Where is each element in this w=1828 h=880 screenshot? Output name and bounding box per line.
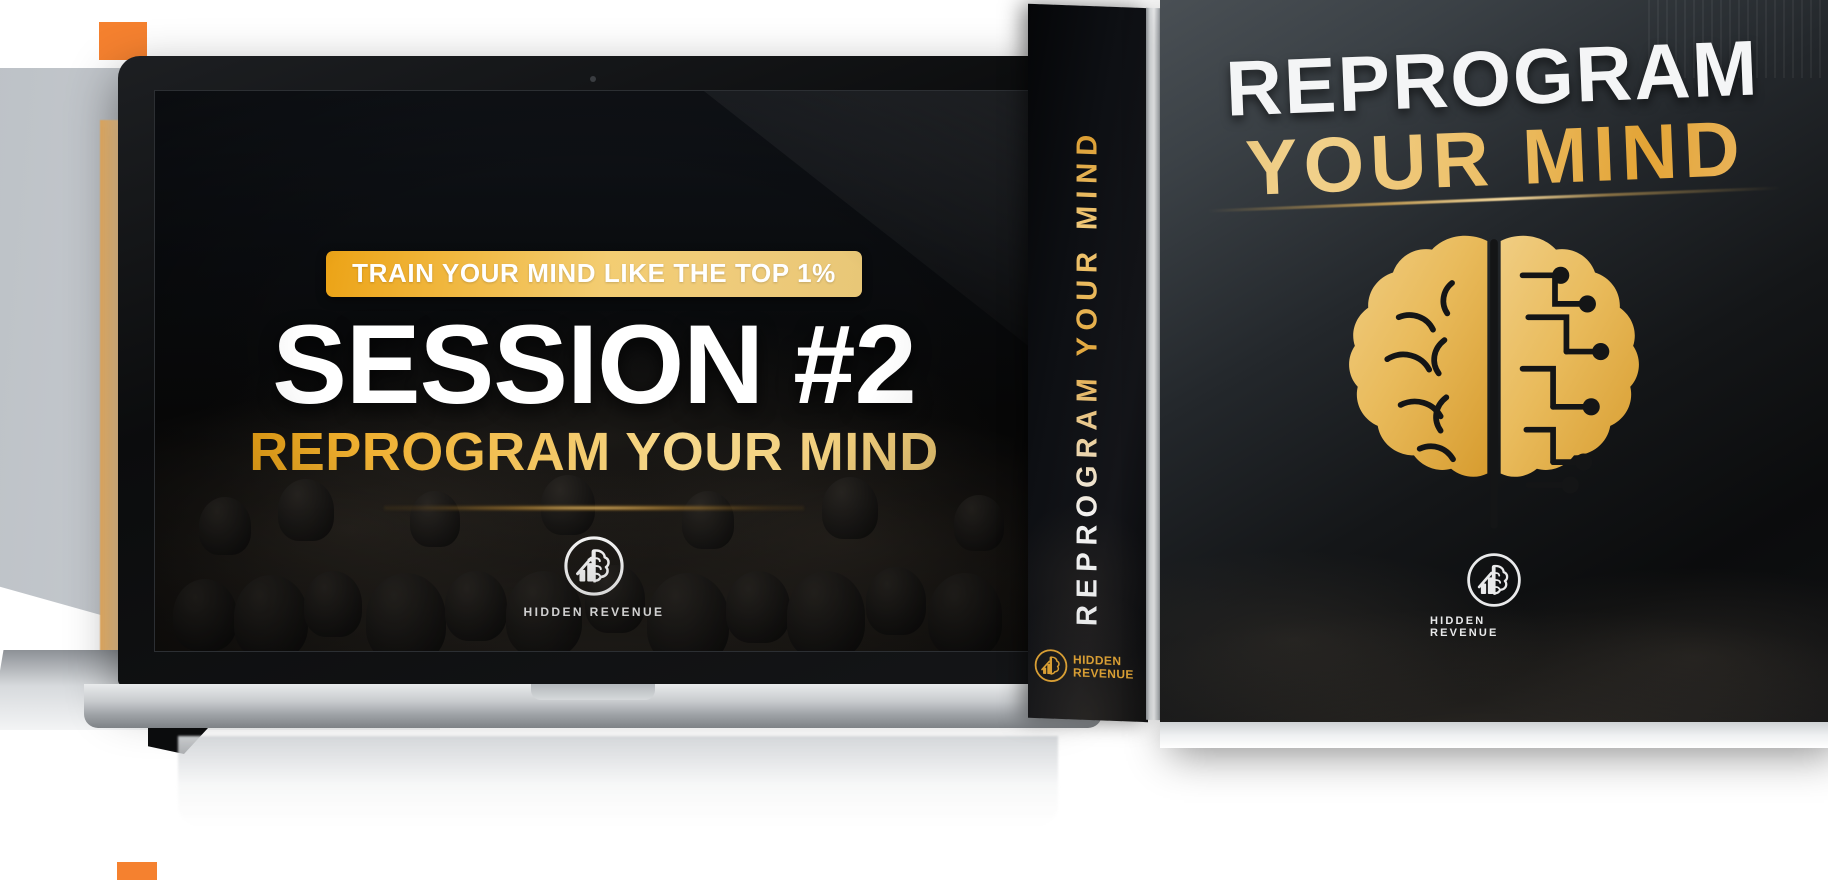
book-bottom-reflection xyxy=(1160,722,1828,748)
session-headline: SESSION #2 xyxy=(272,309,916,421)
session-subheadline: REPROGRAM YOUR MIND xyxy=(249,425,939,479)
book-spine-brand-logo: HIDDEN REVENUE xyxy=(1034,648,1142,686)
screen-brand-logo: HIDDEN REVENUE xyxy=(524,535,665,619)
screen-brand-wordmark: HIDDEN REVENUE xyxy=(524,605,665,619)
book-front-cover: REPROGRAM YOUR MIND xyxy=(1160,0,1828,740)
laptop-screen: TRAIN YOUR MIND LIKE THE TOP 1% SESSION … xyxy=(154,90,1034,652)
laptop-mockup: TRAIN YOUR MIND LIKE THE TOP 1% SESSION … xyxy=(118,56,1068,756)
session-tagline-badge: TRAIN YOUR MIND LIKE THE TOP 1% xyxy=(326,251,862,297)
laptop-webcam-icon xyxy=(590,76,596,82)
session-tagline-text: TRAIN YOUR MIND LIKE THE TOP 1% xyxy=(352,260,836,286)
book-spine-title: REPROGRAM YOUR MIND xyxy=(1072,128,1105,627)
promo-mockup-canvas: TRAIN YOUR MIND LIKE THE TOP 1% SESSION … xyxy=(0,0,1828,880)
book-spine: REPROGRAM YOUR MIND HIDDEN xyxy=(1028,4,1148,722)
book-cover-brand-logo: HIDDEN REVENUE xyxy=(1430,552,1558,639)
orange-accent-tab-top xyxy=(99,22,147,60)
book-cover-wordmark: HIDDEN REVENUE xyxy=(1430,615,1558,639)
book-spine-wordmark: HIDDEN REVENUE xyxy=(1073,654,1134,681)
brain-bar-chart-logo-icon xyxy=(1034,648,1068,683)
brain-bar-chart-logo-icon xyxy=(1466,552,1522,608)
laptop-lid: TRAIN YOUR MIND LIKE THE TOP 1% SESSION … xyxy=(118,56,1068,686)
book-mockup: REPROGRAM YOUR MIND HIDDEN xyxy=(1028,0,1828,740)
book-cover-title: REPROGRAM YOUR MIND xyxy=(1157,27,1828,211)
laptop-base-notch xyxy=(531,684,655,700)
brain-bar-chart-logo-icon xyxy=(563,535,625,597)
gold-light-streak-divider xyxy=(384,505,804,511)
gold-circuit-brain-icon xyxy=(1332,224,1656,542)
orange-accent-tab-bottom xyxy=(117,862,157,880)
laptop-reflection xyxy=(178,736,1058,826)
book-spine-wordmark-line2: REVENUE xyxy=(1073,665,1134,681)
